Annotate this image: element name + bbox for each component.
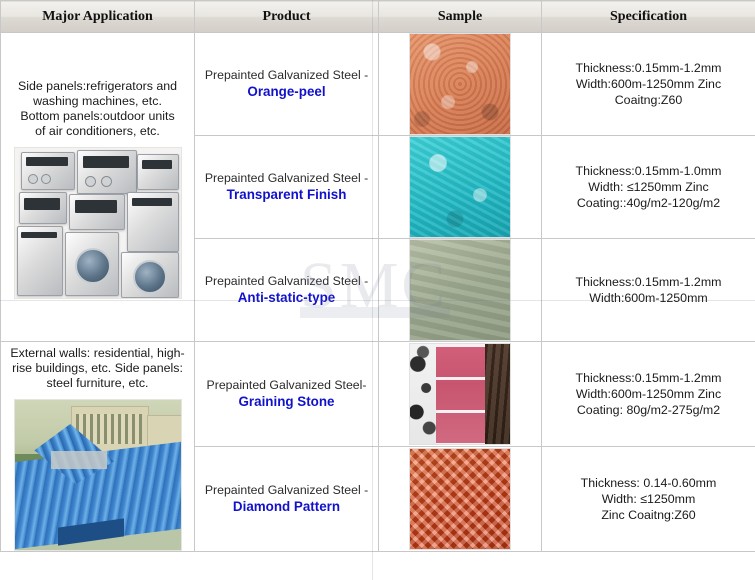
application-line: Side panels:refrigerators and — [7, 79, 188, 94]
product-cell: Prepainted Galvanized Steel - Transparen… — [195, 136, 379, 239]
sample-cell — [379, 342, 542, 447]
application-text-buildings: External walls: residential, high- rise … — [1, 342, 194, 397]
spec-line: Thickness:0.15mm-1.2mm — [542, 60, 755, 76]
sample-cell — [379, 447, 542, 552]
application-line: steel furniture, etc. — [7, 376, 188, 391]
spec-line: Thickness: 0.14-0.60mm — [542, 475, 755, 491]
product-name: Prepainted Galvanized Steel - — [195, 170, 378, 186]
product-cell: Prepainted Galvanized Steel - Anti-stati… — [195, 239, 379, 342]
product-type: Transparent Finish — [195, 186, 378, 204]
application-line: Bottom panels:outdoor units — [7, 109, 188, 124]
spec-line: Thickness:0.15mm-1.0mm — [542, 163, 755, 179]
transparent-finish-swatch — [409, 136, 511, 238]
spec-line: Coating: 80g/m2-275g/m2 — [542, 402, 755, 418]
spec-line: Thickness:0.15mm-1.2mm — [542, 370, 755, 386]
specification-cell: Thickness:0.15mm-1.0mm Width: ≤1250mm Zi… — [542, 136, 755, 239]
spec-line: Zinc Coaitng:Z60 — [542, 507, 755, 523]
header-sample: Sample — [379, 1, 542, 33]
header-major-application: Major Application — [1, 1, 195, 33]
product-type: Graining Stone — [195, 393, 378, 411]
spec-line: Width:600m-1250mm Zinc — [542, 386, 755, 402]
application-line: washing machines, etc. — [7, 94, 188, 109]
table-row: External walls: residential, high- rise … — [1, 342, 755, 447]
spec-line: Width: ≤1250mm — [542, 491, 755, 507]
sample-cell — [379, 33, 542, 136]
specification-cell: Thickness: 0.14-0.60mm Width: ≤1250mm Zi… — [542, 447, 755, 552]
spec-line: Thickness:0.15mm-1.2mm — [542, 274, 755, 290]
spec-line: Coating::40g/m2-120g/m2 — [542, 195, 755, 211]
spec-line: Width:600m-1250mm Zinc — [542, 76, 755, 92]
application-cell-appliances: Side panels:refrigerators and washing ma… — [1, 33, 195, 342]
application-line: of air conditioners, etc. — [7, 124, 188, 139]
application-line: rise buildings, etc. Side panels: — [7, 361, 188, 376]
table-body: Side panels:refrigerators and washing ma… — [1, 33, 755, 552]
application-cell-buildings: External walls: residential, high- rise … — [1, 342, 195, 552]
spec-line: Coaitng:Z60 — [542, 92, 755, 108]
table-row: Side panels:refrigerators and washing ma… — [1, 33, 755, 136]
product-type: Orange-peel — [195, 83, 378, 101]
table-header: Major Application Product Sample Specifi… — [1, 1, 755, 33]
product-name: Prepainted Galvanized Steel- — [195, 377, 378, 393]
anti-static-swatch — [409, 239, 511, 341]
spec-line: Width: ≤1250mm Zinc — [542, 179, 755, 195]
product-name: Prepainted Galvanized Steel - — [195, 273, 378, 289]
home-appliances-photo — [14, 147, 182, 299]
sample-cell — [379, 136, 542, 239]
product-name: Prepainted Galvanized Steel - — [195, 67, 378, 83]
product-name: Prepainted Galvanized Steel - — [195, 482, 378, 498]
specification-cell: Thickness:0.15mm-1.2mm Width:600m-1250mm… — [542, 342, 755, 447]
sample-cell — [379, 239, 542, 342]
diamond-pattern-swatch — [409, 448, 511, 550]
product-cell: Prepainted Galvanized Steel- Graining St… — [195, 342, 379, 447]
specification-cell: Thickness:0.15mm-1.2mm Width:600m-1250mm… — [542, 33, 755, 136]
header-specification: Specification — [542, 1, 755, 33]
orange-peel-swatch — [409, 33, 511, 135]
blue-metal-roof-photo — [14, 399, 182, 551]
product-cell: Prepainted Galvanized Steel - Orange-pee… — [195, 33, 379, 136]
product-type: Diamond Pattern — [195, 498, 378, 516]
product-specification-table: Major Application Product Sample Specifi… — [0, 0, 755, 552]
header-product: Product — [195, 1, 379, 33]
spec-line: Width:600m-1250mm — [542, 290, 755, 306]
application-text-appliances: Side panels:refrigerators and washing ma… — [1, 75, 194, 145]
table-header-row: Major Application Product Sample Specifi… — [1, 1, 755, 33]
application-line: External walls: residential, high- — [7, 346, 188, 361]
product-cell: Prepainted Galvanized Steel - Diamond Pa… — [195, 447, 379, 552]
specification-cell: Thickness:0.15mm-1.2mm Width:600m-1250mm — [542, 239, 755, 342]
graining-stone-swatch — [409, 343, 511, 445]
product-type: Anti-static-type — [195, 289, 378, 307]
